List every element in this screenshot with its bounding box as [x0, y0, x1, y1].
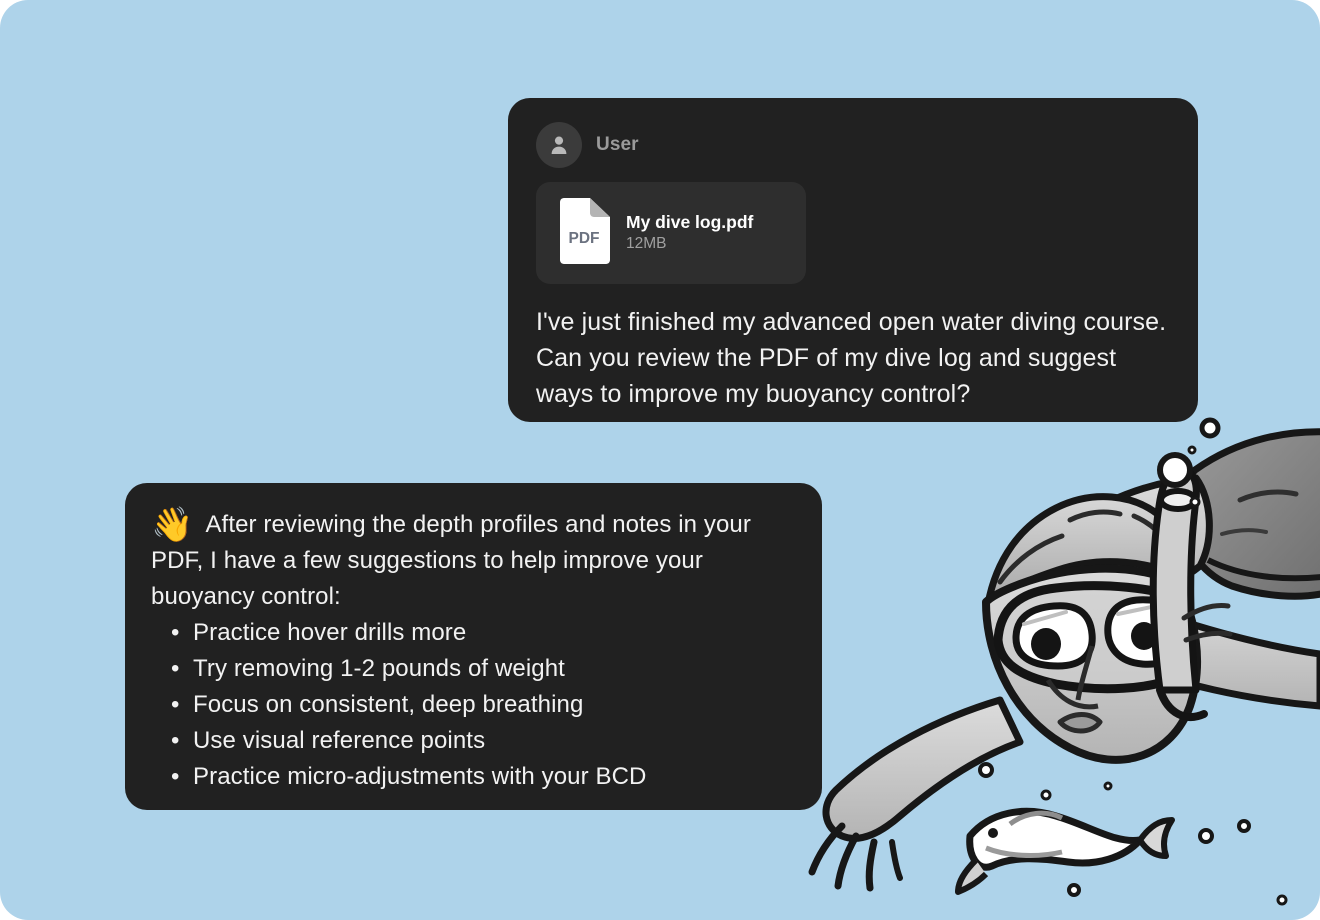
- snorkel: [1153, 470, 1204, 717]
- screenshot-canvas: User PDF My dive log.pdf 12MB I've just …: [0, 0, 1320, 920]
- list-item: Focus on consistent, deep breathing: [193, 687, 796, 723]
- diver-body: [812, 432, 1320, 888]
- svg-text:PDF: PDF: [569, 230, 600, 247]
- assistant-message-bubble: 👋After reviewing the depth profiles and …: [125, 483, 822, 810]
- diver-head: [986, 470, 1230, 760]
- list-item: Practice micro-adjustments with your BCD: [193, 759, 796, 795]
- air-bubbles: [980, 385, 1286, 904]
- assistant-intro-text: After reviewing the depth profiles and n…: [151, 511, 751, 610]
- assistant-intro-paragraph: 👋After reviewing the depth profiles and …: [151, 507, 796, 615]
- assistant-suggestion-list: Practice hover drills more Try removing …: [151, 615, 796, 795]
- pdf-attachment-card[interactable]: PDF My dive log.pdf 12MB: [536, 182, 806, 284]
- assistant-message-body: 👋After reviewing the depth profiles and …: [151, 507, 796, 795]
- pdf-filesize: 12MB: [626, 235, 667, 252]
- dive-mask: [998, 586, 1191, 707]
- pdf-attachment-meta: My dive log.pdf 12MB: [626, 211, 788, 255]
- user-message-bubble: User PDF My dive log.pdf 12MB I've just …: [508, 98, 1198, 422]
- user-name-label: User: [596, 134, 639, 156]
- user-avatar-icon: [536, 122, 582, 168]
- user-message-text: I've just finished my advanced open wate…: [536, 304, 1170, 412]
- waving-hand-emoji: 👋: [151, 507, 193, 543]
- user-message-header: User: [536, 122, 1170, 168]
- pdf-filename: My dive log.pdf: [626, 212, 753, 232]
- list-item: Practice hover drills more: [193, 615, 796, 651]
- fish: [958, 811, 1172, 892]
- list-item: Use visual reference points: [193, 723, 796, 759]
- list-item: Try removing 1-2 pounds of weight: [193, 651, 796, 687]
- pdf-file-icon: PDF: [554, 198, 610, 268]
